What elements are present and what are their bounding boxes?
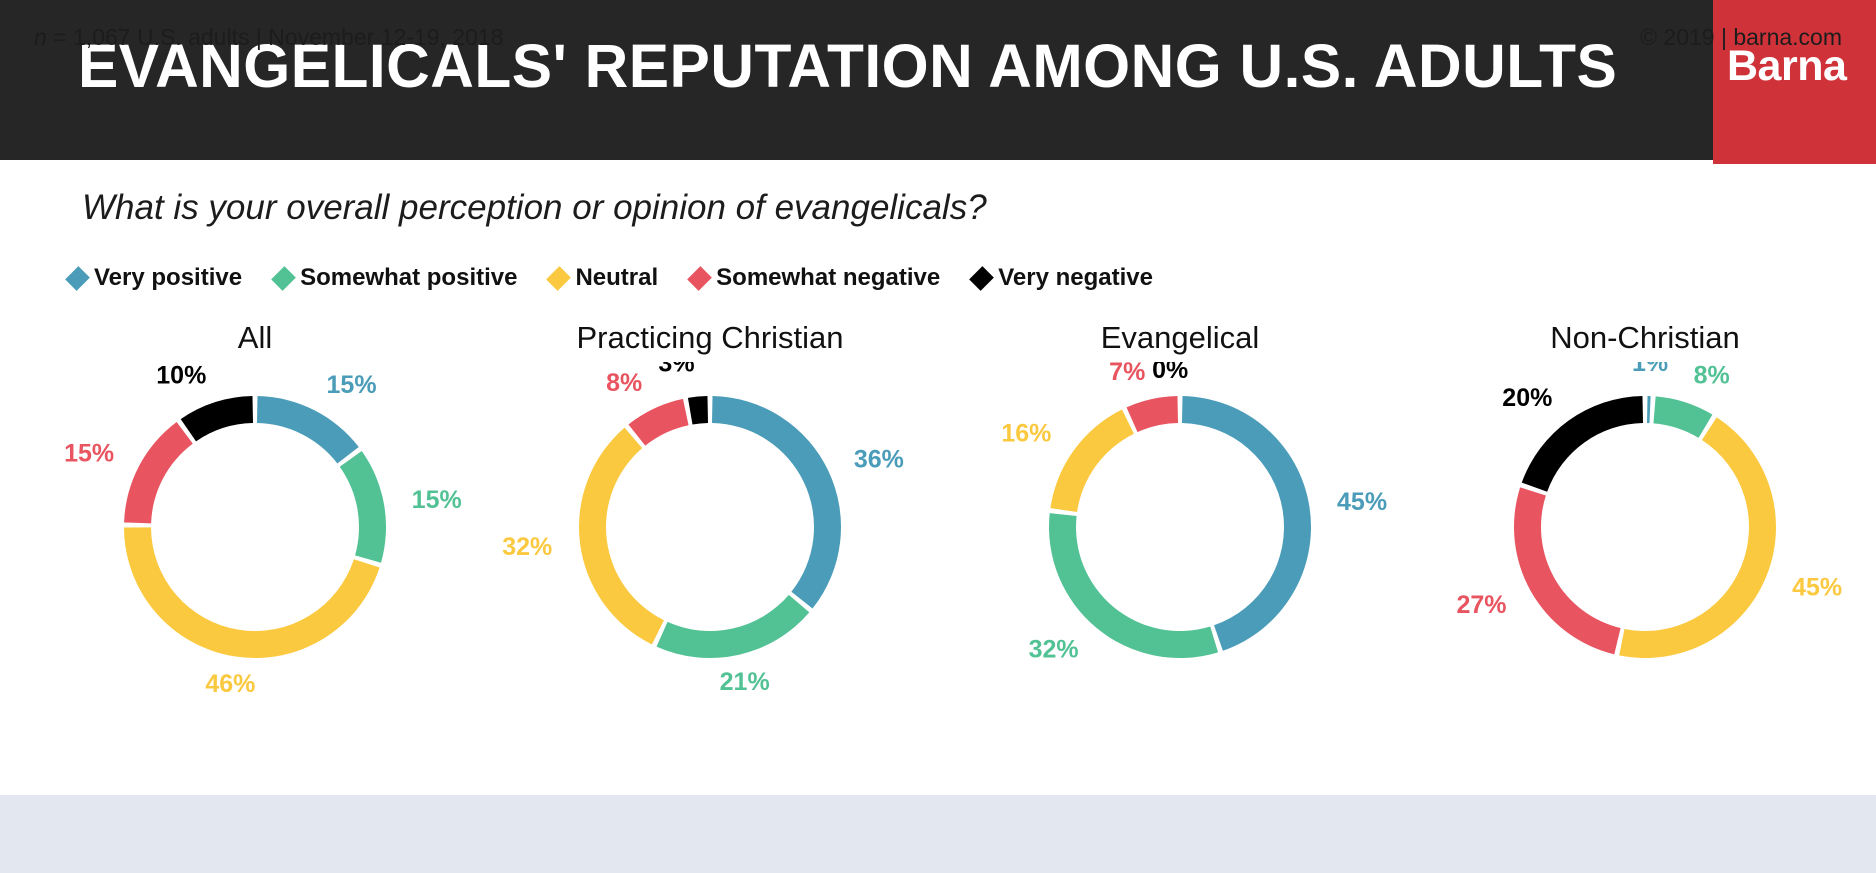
legend-item-3: Somewhat negative [692,264,940,292]
donut-slice-label: 45% [1792,573,1842,601]
footer-copyright: © 2019 | barna.com [1640,24,1842,51]
donut-slice-label: 32% [502,533,552,561]
footer-source-text: = 1,067 U.S. adults | November 12-19, 20… [47,24,504,50]
donut-slice[interactable] [579,428,664,645]
donut-slice-label: 15% [412,486,462,514]
legend-item-label: Somewhat positive [300,264,517,292]
donut-slice-label: 36% [854,445,904,473]
donut-svg: 36%21%32%8%3% [500,362,920,712]
footer-bar [0,795,1876,873]
donut-slice-label: 16% [1001,420,1051,448]
donut-slice[interactable] [628,399,688,446]
donut-slice-label: 15% [327,371,377,399]
donut-slice[interactable] [657,595,810,658]
donut-slice[interactable] [1127,396,1178,432]
donut-slice[interactable] [1182,396,1311,651]
legend-item-0: Very positive [70,264,242,292]
donut-slice-label: 7% [1109,362,1145,386]
donut-slice[interactable] [1050,410,1134,512]
donut-slice-label: 27% [1456,591,1506,619]
diamond-icon [687,266,712,291]
diamond-icon [969,266,994,291]
legend-item-2: Neutral [551,264,658,292]
donut-chart-title: Practicing Christian [500,320,920,356]
legend-item-1: Somewhat positive [276,264,517,292]
donut-slice-label: 0% [1152,362,1188,384]
donut-slice[interactable] [1619,417,1776,658]
footer-source-note: n = 1,067 U.S. adults | November 12-19, … [34,24,503,51]
donut-slice[interactable] [124,527,380,658]
donut-chart-1: Practicing Christian36%21%32%8%3% [500,320,920,740]
donut-slice[interactable] [181,396,253,441]
donut-slice-label: 3% [658,362,694,378]
donut-slice[interactable] [1653,396,1712,437]
donut-slice[interactable] [340,451,386,563]
legend-item-label: Neutral [575,264,658,292]
donut-chart-0: All15%15%46%15%10% [45,320,465,740]
donut-slice[interactable] [712,396,841,609]
donut-svg: 1%8%45%27%20% [1435,362,1855,712]
donut-slice-label: 8% [606,369,642,397]
donut-slice-label: 10% [156,362,206,390]
donut-slice-label: 1% [1632,362,1668,377]
donut-slice-label: 15% [64,439,114,467]
donut-slice-label: 8% [1694,362,1730,390]
donut-svg: 15%15%46%15%10% [45,362,465,712]
donut-slice-label: 20% [1502,384,1552,412]
legend-item-label: Very positive [94,264,242,292]
diamond-icon [547,266,572,291]
donut-slice[interactable] [1647,396,1651,423]
chart-legend: Very positiveSomewhat positiveNeutralSom… [70,264,1153,292]
donut-slice-label: 46% [205,670,255,698]
donut-slice[interactable] [257,396,359,463]
donut-slice[interactable] [1514,487,1621,654]
legend-item-label: Somewhat negative [716,264,940,292]
donut-slice-label: 32% [1029,636,1079,664]
diamond-icon [65,266,90,291]
footer-n-symbol: n [34,24,47,50]
donut-slice-label: 21% [720,668,770,696]
legend-item-4: Very negative [974,264,1153,292]
donut-slice[interactable] [124,422,193,523]
donut-chart-3: Non-Christian1%8%45%27%20% [1435,320,1855,740]
donut-slice[interactable] [688,396,708,424]
donut-slice-label: 45% [1337,488,1387,516]
donut-chart-2: Evangelical45%32%16%7%0% [970,320,1390,740]
donut-chart-title: Non-Christian [1435,320,1855,356]
diamond-icon [271,266,296,291]
donut-chart-title: All [45,320,465,356]
survey-question: What is your overall perception or opini… [82,188,987,228]
donut-chart-group: All15%15%46%15%10%Practicing Christian36… [0,320,1876,740]
donut-chart-title: Evangelical [970,320,1390,356]
legend-item-label: Very negative [998,264,1153,292]
donut-svg: 45%32%16%7%0% [970,362,1390,712]
